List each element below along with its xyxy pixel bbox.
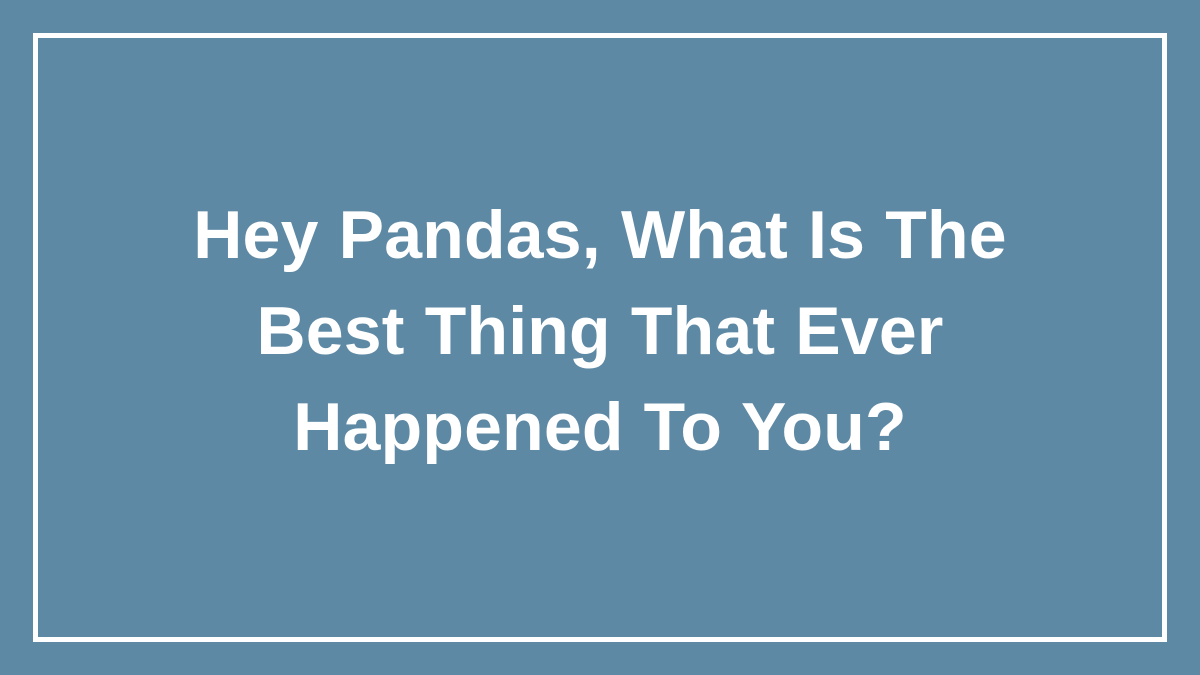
page-title: Hey Pandas, What Is The Best Thing That …: [120, 187, 1080, 475]
headline-container: Hey Pandas, What Is The Best Thing That …: [33, 33, 1167, 642]
question-card: Hey Pandas, What Is The Best Thing That …: [0, 0, 1200, 675]
